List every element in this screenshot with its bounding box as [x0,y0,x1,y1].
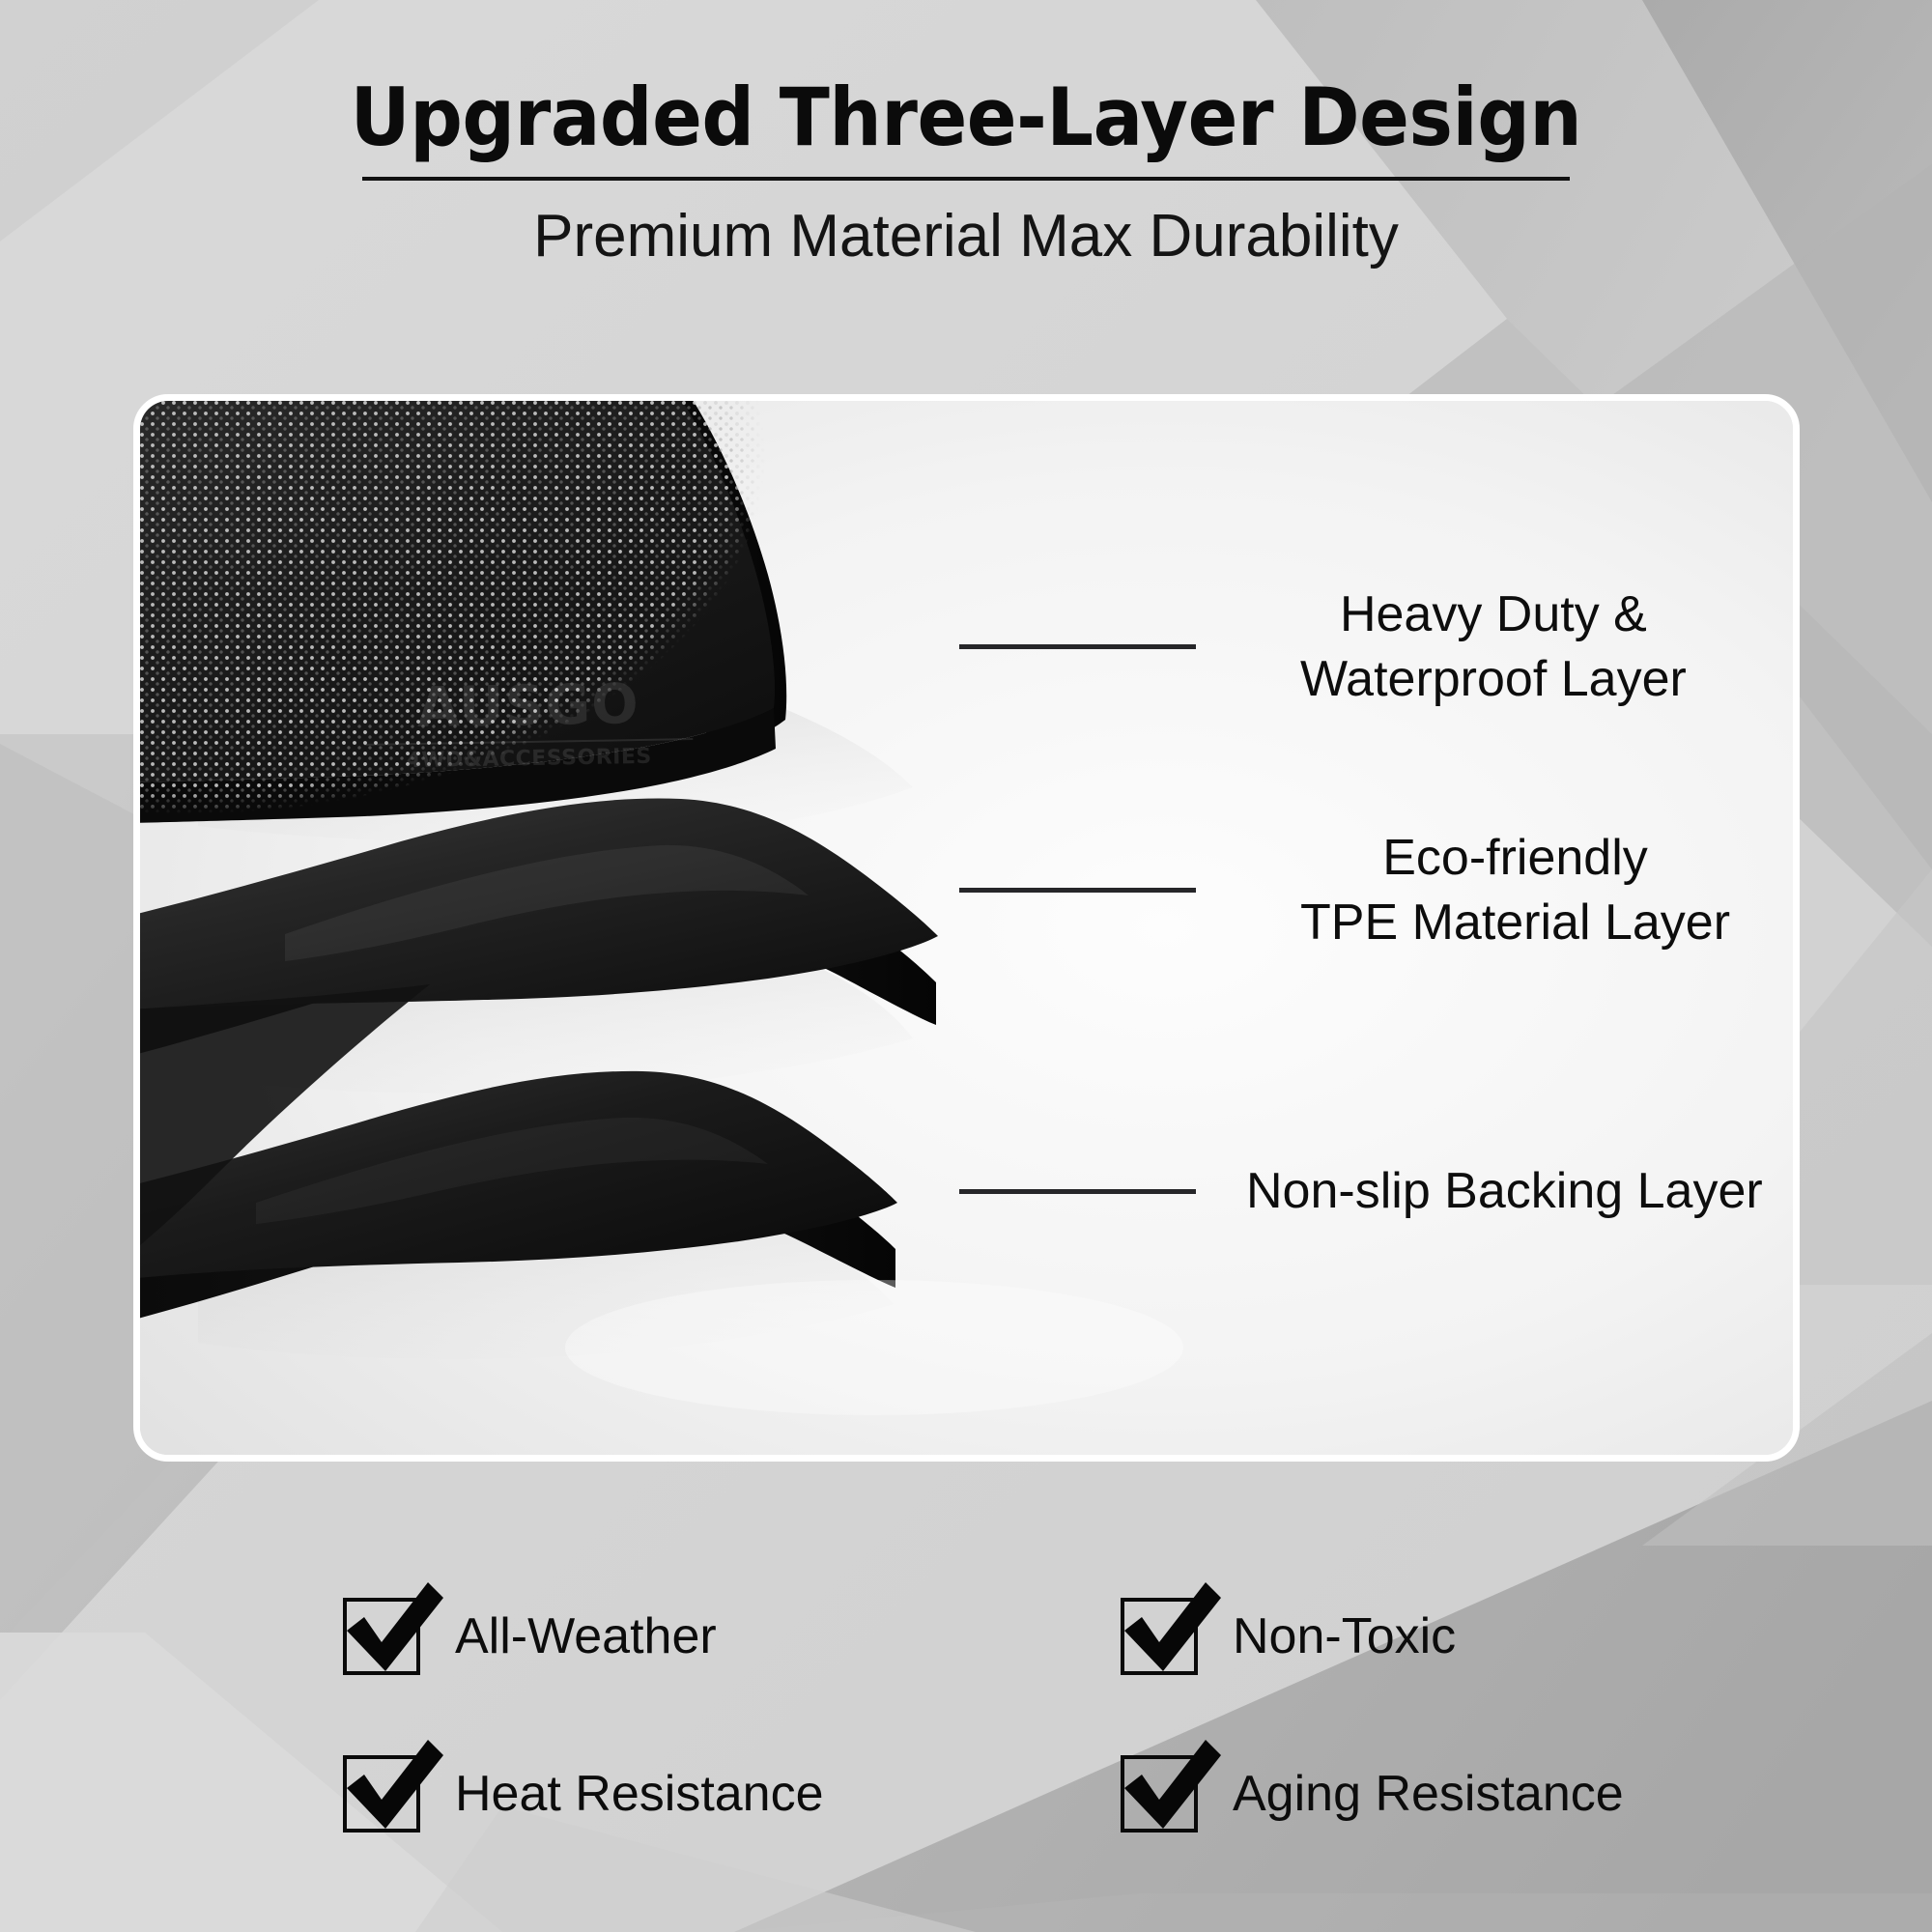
feature-item-non-toxic: Non-Toxic [1121,1557,1710,1715]
floor-reflection [565,1280,1183,1415]
checkbox-checked-icon [1121,1755,1198,1833]
feature-label: All-Weather [455,1607,717,1665]
feature-label: Aging Resistance [1233,1765,1624,1823]
callout-label: Non-slip Backing Layer [1246,1159,1763,1224]
callout-label-line-2: Waterproof Layer [1300,647,1687,712]
layer1-face [140,401,775,783]
checkbox-checked-icon [343,1755,420,1833]
leader-line-icon [959,644,1196,649]
mat-layer-heavy-duty-waterproof [140,401,786,824]
page-title: Upgraded Three-Layer Design [77,75,1855,159]
callout-heavy-duty-waterproof: Heavy Duty & Waterproof Layer [959,582,1687,711]
feature-item-aging-resistance: Aging Resistance [1121,1715,1710,1872]
callout-label-line-2: TPE Material Layer [1300,891,1730,955]
callout-eco-friendly-tpe: Eco-friendly TPE Material Layer [959,826,1730,954]
feature-label: Heat Resistance [455,1765,824,1823]
header: Upgraded Three-Layer Design Premium Mate… [0,75,1932,270]
feature-label: Non-Toxic [1233,1607,1456,1665]
leader-line-icon [959,888,1196,893]
feature-checklist: All-Weather Non-Toxic Heat Resistance [343,1557,1715,1872]
checkbox-checked-icon [343,1598,420,1675]
callout-label-line-1: Heavy Duty & [1300,582,1687,647]
callout-non-slip-backing: Non-slip Backing Layer [959,1159,1763,1224]
title-divider [362,177,1570,181]
checkbox-checked-icon [1121,1598,1198,1675]
feature-item-all-weather: All-Weather [343,1557,932,1715]
callout-label: Heavy Duty & Waterproof Layer [1300,582,1687,711]
bg-wedge-bottom-sliver [734,1893,1932,1932]
check-mark-icon [337,1734,445,1842]
callout-label: Eco-friendly TPE Material Layer [1300,826,1730,954]
feature-item-heat-resistance: Heat Resistance [343,1715,932,1872]
infographic-root: Upgraded Three-Layer Design Premium Mate… [0,0,1932,1932]
callout-label-line-1: Non-slip Backing Layer [1246,1159,1763,1224]
check-mark-icon [337,1577,445,1685]
check-mark-icon [1115,1734,1223,1842]
leader-line-icon [959,1189,1196,1194]
page-subtitle: Premium Material Max Durability [0,202,1932,270]
callout-label-line-1: Eco-friendly [1300,826,1730,891]
check-mark-icon [1115,1577,1223,1685]
